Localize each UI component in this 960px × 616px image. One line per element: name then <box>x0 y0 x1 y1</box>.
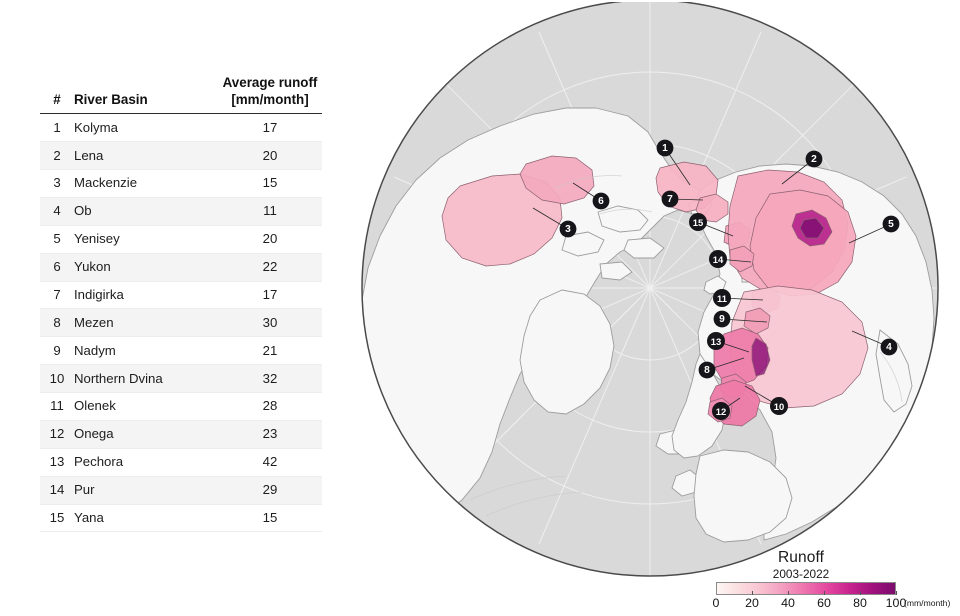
cell-value: 42 <box>218 448 322 476</box>
table-row: 5Yenisey20 <box>40 225 322 253</box>
column-header-number-label: # <box>40 91 74 108</box>
basin-marker-7[interactable]: 7 <box>662 191 679 208</box>
cell-name: Mackenzie <box>74 170 218 198</box>
column-header-average-runoff-line1: Average runoff <box>218 74 322 91</box>
river-basin-table-panel: # River Basin Average runoff [mm/month] … <box>40 74 322 532</box>
cell-value: 28 <box>218 393 322 421</box>
table-row: 4Ob11 <box>40 197 322 225</box>
marker-label: 4 <box>886 342 892 353</box>
column-header-river-basin-label: River Basin <box>74 91 218 108</box>
cell-name: Ob <box>74 197 218 225</box>
cell-name: Lena <box>74 142 218 170</box>
marker-label: 11 <box>717 293 727 304</box>
marker-label: 1 <box>662 143 668 154</box>
marker-label: 13 <box>711 336 721 347</box>
basin-marker-2[interactable]: 2 <box>806 151 823 168</box>
marker-label: 10 <box>774 401 784 412</box>
table-row: 13Pechora42 <box>40 448 322 476</box>
basin-marker-5[interactable]: 5 <box>883 216 900 233</box>
basin-marker-3[interactable]: 3 <box>560 221 577 238</box>
basin-marker-9[interactable]: 9 <box>714 311 731 328</box>
column-header-average-runoff: Average runoff [mm/month] <box>218 74 322 114</box>
marker-label: 8 <box>704 365 710 376</box>
cell-name: Yana <box>74 504 218 532</box>
cell-name: Olenek <box>74 393 218 421</box>
marker-label: 5 <box>888 219 894 230</box>
colorbar-tick <box>824 591 825 595</box>
table-row: 10Northern Dvina32 <box>40 365 322 393</box>
marker-label: 9 <box>719 314 725 325</box>
cell-value: 17 <box>218 281 322 309</box>
basin-marker-10[interactable]: 10 <box>770 397 788 415</box>
cell-value: 30 <box>218 309 322 337</box>
cell-num: 1 <box>40 114 74 142</box>
river-basin-table: # River Basin Average runoff [mm/month] … <box>40 74 322 532</box>
marker-label: 15 <box>693 217 703 228</box>
colorbar-tick-label: 20 <box>745 596 759 610</box>
cell-value: 21 <box>218 337 322 365</box>
legend-title: Runoff <box>706 549 896 567</box>
basin-marker-15[interactable]: 15 <box>689 213 707 231</box>
cell-value: 11 <box>218 197 322 225</box>
runoff-colorbar-legend: Runoff 2003-2022 020406080100 (mm/month) <box>706 549 956 611</box>
colorbar-tick <box>788 591 789 595</box>
basin-marker-4[interactable]: 4 <box>881 339 898 356</box>
table-row: 15Yana15 <box>40 504 322 532</box>
table-row: 9Nadym21 <box>40 337 322 365</box>
table-row: 2Lena20 <box>40 142 322 170</box>
cell-value: 20 <box>218 225 322 253</box>
legend-subtitle: 2003-2022 <box>706 567 896 581</box>
table-row: 8Mezen30 <box>40 309 322 337</box>
cell-num: 9 <box>40 337 74 365</box>
cell-num: 8 <box>40 309 74 337</box>
cell-name: Yenisey <box>74 225 218 253</box>
cell-name: Indigirka <box>74 281 218 309</box>
column-header-average-runoff-line2: [mm/month] <box>218 91 322 108</box>
marker-label: 3 <box>565 224 571 235</box>
cell-num: 6 <box>40 253 74 281</box>
cell-num: 4 <box>40 197 74 225</box>
colorbar-tick <box>752 591 753 595</box>
cell-name: Nadym <box>74 337 218 365</box>
basin-marker-11[interactable]: 11 <box>713 289 731 307</box>
cell-value: 32 <box>218 365 322 393</box>
cell-num: 12 <box>40 420 74 448</box>
cell-num: 14 <box>40 476 74 504</box>
cell-num: 10 <box>40 365 74 393</box>
cell-num: 5 <box>40 225 74 253</box>
column-header-number: # <box>40 74 74 114</box>
arctic-runoff-map: 123456789101112131415 <box>340 2 960 616</box>
table-row: 7Indigirka17 <box>40 281 322 309</box>
table-row: 11Olenek28 <box>40 393 322 421</box>
table-row: 12Onega23 <box>40 420 322 448</box>
cell-name: Onega <box>74 420 218 448</box>
colorbar-tick <box>860 591 861 595</box>
basin-marker-12[interactable]: 12 <box>712 402 730 420</box>
table-row: 3Mackenzie15 <box>40 170 322 198</box>
cell-value: 22 <box>218 253 322 281</box>
basin-marker-1[interactable]: 1 <box>657 140 674 157</box>
cell-num: 3 <box>40 170 74 198</box>
cell-name: Mezen <box>74 309 218 337</box>
table-row: 14Pur29 <box>40 476 322 504</box>
colorbar-tick-label: 60 <box>817 596 831 610</box>
marker-label: 12 <box>716 406 726 417</box>
table-head: # River Basin Average runoff [mm/month] <box>40 74 322 114</box>
cell-num: 13 <box>40 448 74 476</box>
cell-value: 20 <box>218 142 322 170</box>
colorbar-gradient <box>716 582 896 595</box>
colorbar-units-label: (mm/month) <box>904 598 950 608</box>
cell-name: Kolyma <box>74 114 218 142</box>
table-body: 1Kolyma172Lena203Mackenzie154Ob115Yenise… <box>40 114 322 532</box>
colorbar-tick <box>896 591 897 595</box>
cell-name: Northern Dvina <box>74 365 218 393</box>
marker-label: 14 <box>713 254 724 265</box>
table-row: 6Yukon22 <box>40 253 322 281</box>
basin-marker-14[interactable]: 14 <box>709 250 727 268</box>
cell-name: Pur <box>74 476 218 504</box>
basin-marker-6[interactable]: 6 <box>593 193 610 210</box>
cell-num: 11 <box>40 393 74 421</box>
cell-name: Pechora <box>74 448 218 476</box>
basin-marker-8[interactable]: 8 <box>699 362 716 379</box>
column-header-river-basin: River Basin <box>74 74 218 114</box>
cell-name: Yukon <box>74 253 218 281</box>
marker-label: 7 <box>667 194 673 205</box>
cell-value: 15 <box>218 504 322 532</box>
cell-value: 15 <box>218 170 322 198</box>
colorbar-tick-label: 40 <box>781 596 795 610</box>
cell-value: 29 <box>218 476 322 504</box>
cell-num: 2 <box>40 142 74 170</box>
table-row: 1Kolyma17 <box>40 114 322 142</box>
cell-num: 15 <box>40 504 74 532</box>
cell-value: 17 <box>218 114 322 142</box>
marker-label: 2 <box>811 154 817 165</box>
marker-label: 6 <box>598 196 604 207</box>
cell-value: 23 <box>218 420 322 448</box>
colorbar-tick-label: 80 <box>853 596 867 610</box>
basin-marker-13[interactable]: 13 <box>707 332 725 350</box>
colorbar-tick-label: 0 <box>713 596 720 610</box>
colorbar-wrapper <box>716 582 896 595</box>
cell-num: 7 <box>40 281 74 309</box>
